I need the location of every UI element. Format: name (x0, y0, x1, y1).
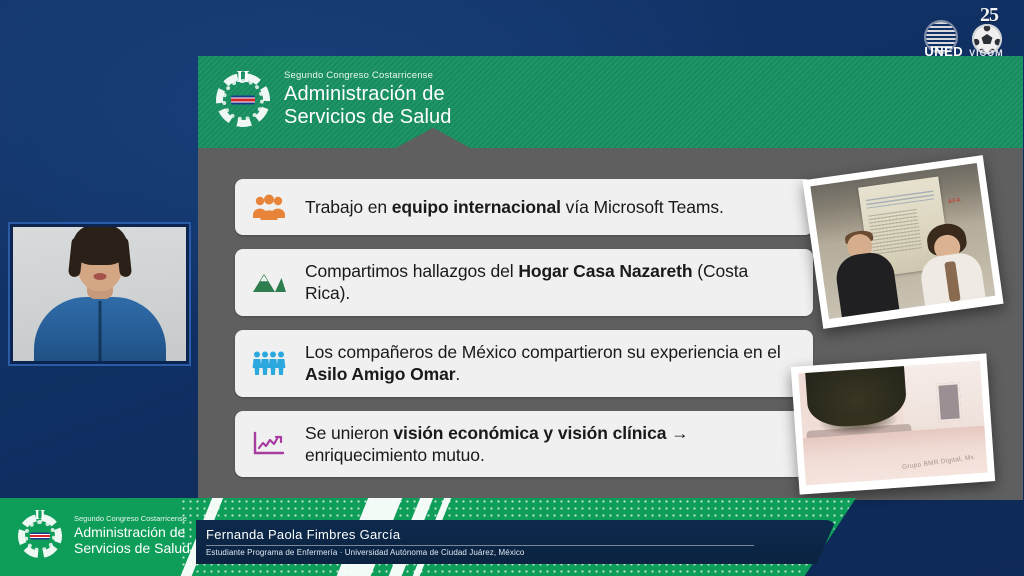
congress-kicker: Segundo Congreso Costarricense (284, 71, 451, 81)
list-item: Compartimos hallazgos del Hogar Casa Naz… (235, 249, 813, 316)
building-photo-image: Grupo BMR Digital, Mx (798, 361, 987, 485)
bullet-text: Compartimos hallazgos del Hogar Casa Naz… (305, 260, 797, 305)
name-plate-divider (206, 545, 754, 546)
people-group-icon (249, 190, 289, 224)
photo-person-right (915, 220, 986, 305)
speaker-torso (34, 297, 166, 361)
speaker-hair (73, 227, 127, 265)
speaker-name: Fernanda Paola Fimbres García (206, 527, 400, 542)
lower-third-title-line1: Administración de (74, 524, 190, 541)
laurel-wreath-crest-icon: II (14, 510, 66, 562)
presentation-stage: 25 UNED VICOM II (0, 0, 1024, 576)
congress-title-block: Segundo Congreso Costarricense Administr… (284, 71, 451, 128)
laurel-wreath-crest-icon: II (212, 69, 274, 131)
team-photo-image: AFA (810, 163, 995, 319)
building-photo: Grupo BMR Digital, Mx (791, 353, 995, 494)
building-door (936, 382, 962, 422)
webcam-video-feed (13, 227, 186, 361)
poster-logo-text: AFA (948, 197, 962, 205)
costa-rica-flag-icon (30, 533, 50, 540)
list-item: Trabajo en equipo internacional vía Micr… (235, 179, 813, 235)
speaker-mouth (93, 273, 106, 280)
lower-third-congress-text: Segundo Congreso Costarricense Administr… (74, 515, 190, 556)
speaker-webcam-pip[interactable] (8, 222, 191, 366)
photo-person-left (831, 227, 899, 317)
congress-title-line2: Servicios de Salud (284, 106, 451, 129)
slide-header-content: II Segundo Congreso Costarricense Admini… (212, 69, 451, 131)
building-foliage (805, 361, 907, 429)
bullet-text: Trabajo en equipo internacional vía Micr… (305, 196, 724, 218)
people-row-icon (249, 346, 289, 380)
speaker-subtitle: Estudiante Programa de Enfermería · Univ… (206, 548, 524, 557)
bullet-list: Trabajo en equipo internacional vía Micr… (235, 179, 813, 477)
lower-third-kicker: Segundo Congreso Costarricense (74, 515, 190, 523)
lower-third-congress-logo: II Segundo Congreso Costarricense Admini… (14, 510, 190, 562)
bullet-text: Se unieron visión económica y visión clí… (305, 422, 797, 467)
costa-rica-flag-icon (231, 96, 255, 105)
lower-third-title-line2: Servicios de Salud (74, 540, 190, 557)
congress-title-line1: Administración de (284, 83, 451, 106)
team-photo: AFA (802, 155, 1003, 329)
mountains-icon (249, 265, 289, 299)
bullet-text: Los compañeros de México compartieron su… (305, 341, 797, 386)
list-item: Los compañeros de México compartieron su… (235, 330, 813, 397)
list-item: Se unieron visión económica y visión clí… (235, 411, 813, 478)
line-chart-icon (249, 427, 289, 461)
lower-third-banner: II Segundo Congreso Costarricense Admini… (0, 498, 856, 576)
